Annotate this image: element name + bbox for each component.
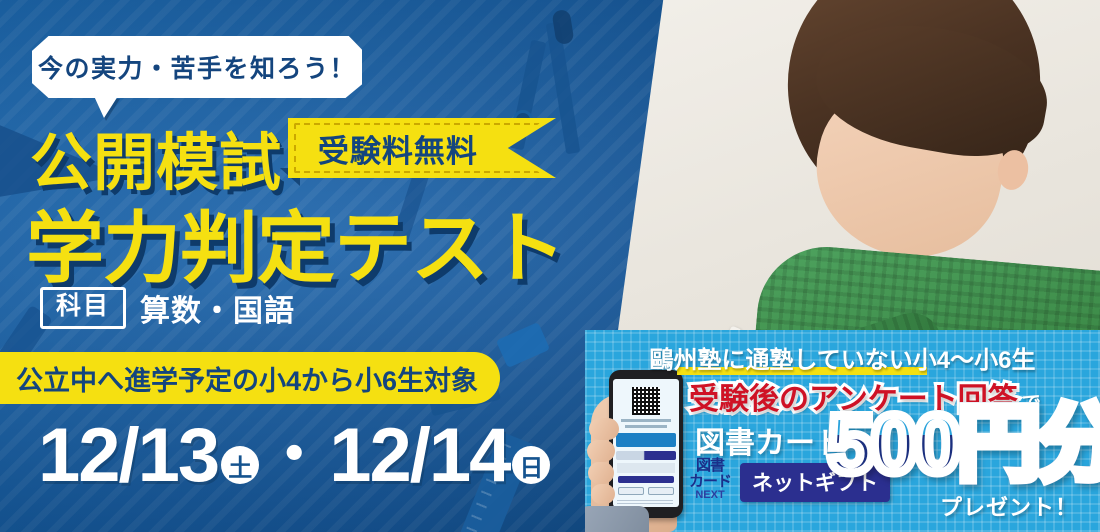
subject-row: 科目 算数・国語 — [40, 286, 295, 330]
screen-primary-button — [618, 476, 674, 483]
finger-2 — [587, 440, 615, 462]
smartphone — [609, 370, 683, 518]
date-separator: ・ — [263, 425, 325, 487]
eyebrow-speech-bubble-text: 今の実力・苦手を知ろう！ — [32, 36, 362, 98]
finger-4 — [591, 484, 615, 504]
phone-in-hand — [591, 366, 699, 532]
present-label: プレゼント！ — [940, 490, 1078, 522]
finger-3 — [588, 462, 614, 484]
screen-secondary-button-2 — [648, 487, 674, 495]
gift-amount: 500円分 — [828, 402, 1100, 485]
date-2: 12/14 — [329, 418, 509, 494]
date-1: 12/13 — [38, 418, 218, 494]
smartphone-screen — [613, 379, 679, 507]
eligibility-row: 鷗州塾に通塾していない小4〜小6生 — [585, 340, 1100, 375]
date-2-weekday: 日 — [512, 446, 550, 484]
event-dates: 12/13 土 ・ 12/14 日 — [38, 418, 550, 494]
target-audience-text: 公立中へ進学予定の小4から小6生対象 — [16, 359, 478, 398]
screen-text-line-1 — [621, 419, 671, 422]
screen-secondary-button-1 — [618, 487, 644, 495]
target-audience-pill: 公立中へ進学予定の小4から小6生対象 — [0, 352, 500, 404]
finger-1 — [589, 418, 619, 440]
gift-card-name: 図書カード — [695, 418, 845, 462]
date-1-weekday: 土 — [221, 446, 259, 484]
subject-label: 科目 — [40, 287, 126, 329]
screen-paragraph — [617, 463, 675, 473]
free-fee-ribbon-text: 受験料無料 — [288, 118, 508, 178]
qr-code-icon — [632, 387, 660, 415]
screen-footnote — [617, 498, 673, 504]
eyebrow-speech-bubble: 今の実力・苦手を知ろう！ — [32, 36, 362, 98]
screen-logo-row — [616, 451, 676, 460]
eligibility-text: 鷗州塾に通塾していない小4〜小6生 — [650, 340, 1036, 375]
campaign-banner: 鷗州塾に通塾していない小4〜小6生 受験後のアンケート回答 で 図書カード 図書… — [585, 330, 1100, 532]
screen-text-line-2 — [625, 425, 667, 428]
subject-value: 算数・国語 — [140, 286, 295, 330]
screen-cta-bar — [616, 433, 676, 447]
page-title: 学力判定テスト — [26, 186, 565, 298]
sleeve — [585, 506, 649, 532]
promo-banner: 今の実力・苦手を知ろう！ 公開模試 学力判定テスト 受験料無料 科目 算数・国語… — [0, 0, 1100, 532]
